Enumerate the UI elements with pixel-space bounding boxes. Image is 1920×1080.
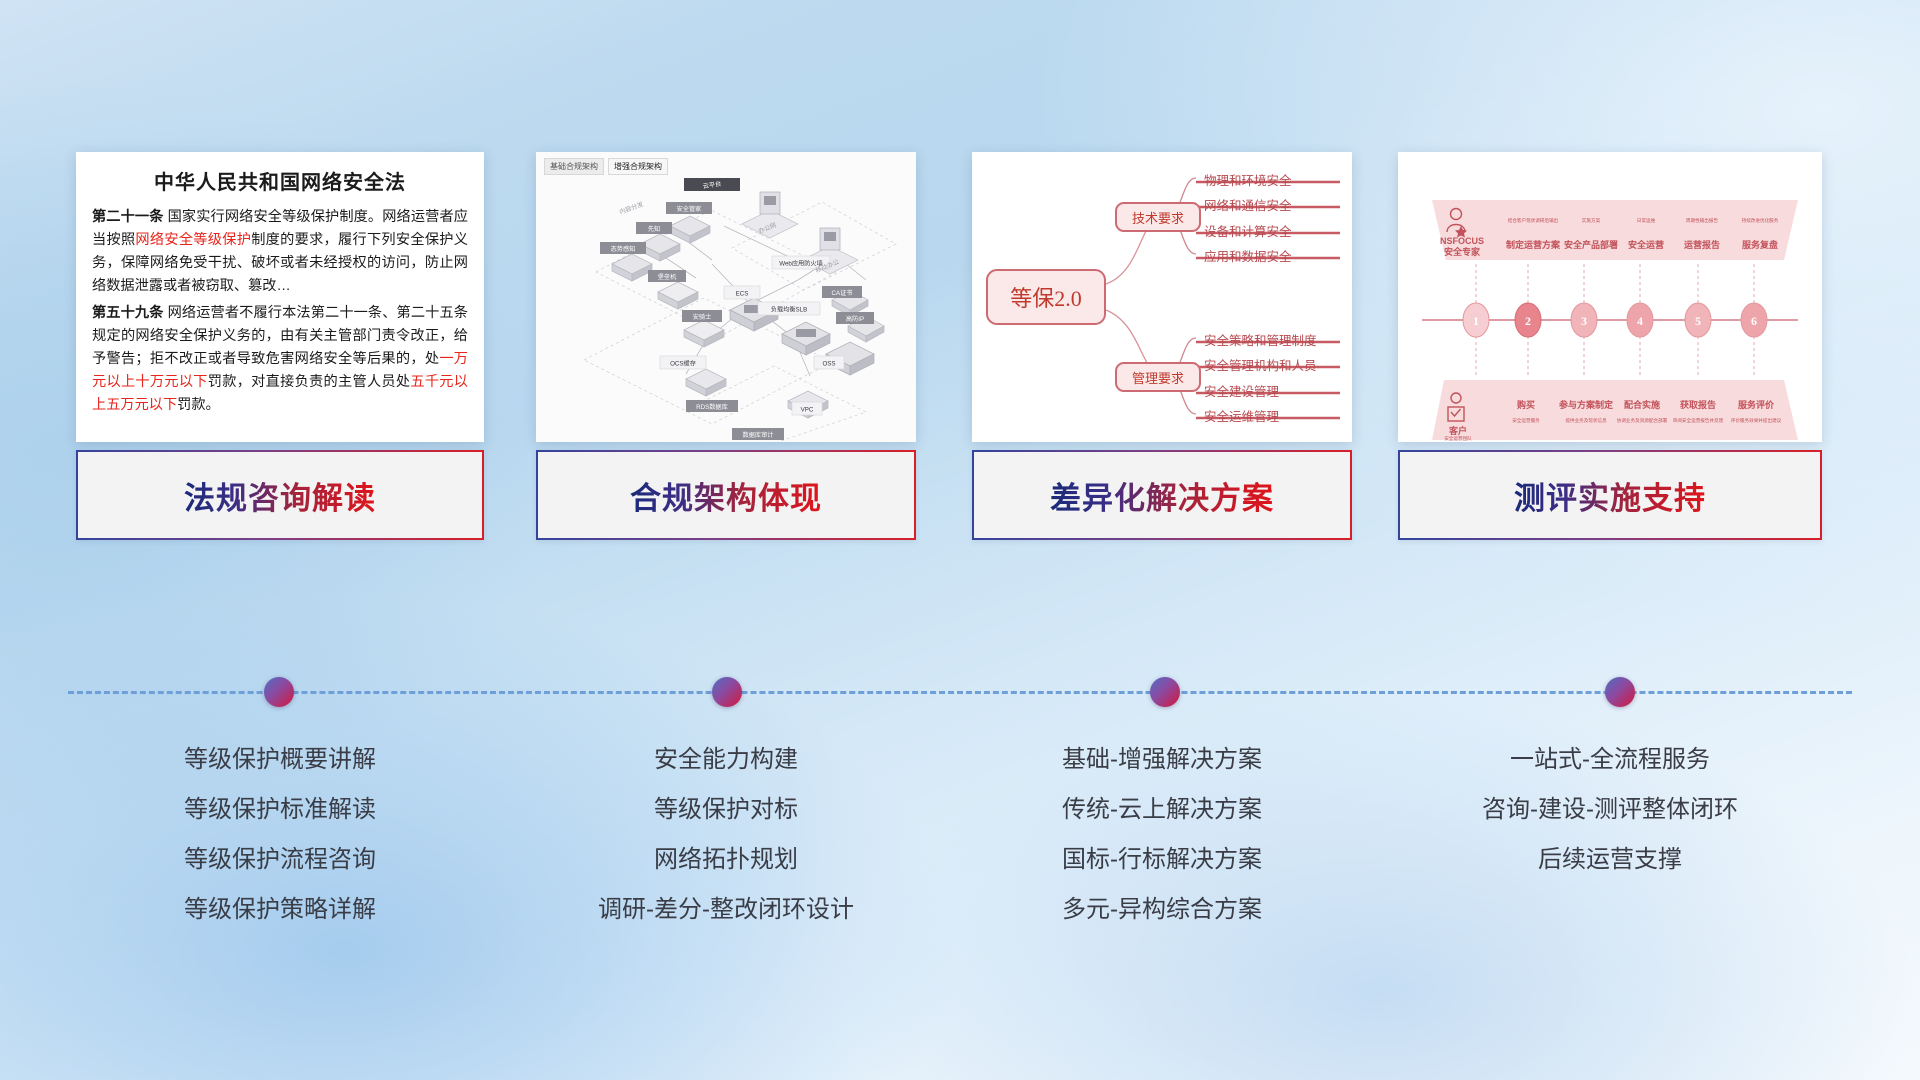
mindmap-leaf-m3: 安全建设管理 — [1204, 381, 1279, 400]
mindmap-leaf-t2: 网络和通信安全 — [1204, 195, 1292, 214]
list-item: 国标-行标解决方案 — [966, 835, 1358, 885]
list-item: 等级保护策略详解 — [76, 885, 484, 935]
svg-text:RDS数据库: RDS数据库 — [696, 403, 728, 411]
svg-text:6: 6 — [1751, 314, 1757, 328]
roadmap-bottom-main-3: 配合实施 — [1610, 398, 1674, 411]
list-item: 安全能力构建 — [530, 735, 922, 785]
list-item: 传统-云上解决方案 — [966, 785, 1358, 835]
card-service-roadmap: 123 456 — [1398, 152, 1822, 442]
list-item: 等级保护概要讲解 — [76, 735, 484, 785]
svg-text:1: 1 — [1473, 314, 1479, 328]
list-item: 网络拓扑规划 — [530, 835, 922, 885]
roadmap-bottom-main-4: 获取报告 — [1666, 398, 1730, 411]
roadmap-customer-sub: 安全运营团队 — [1424, 436, 1492, 442]
svg-text:ECS: ECS — [736, 291, 749, 298]
svg-text:高防IP: 高防IP — [846, 315, 864, 323]
list-item: 咨询-建设-测评整体闭环 — [1398, 785, 1822, 835]
card-law-text: 中华人民共和国网络安全法 第二十一条 国家实行网络安全等级保护制度。网络运营者应… — [76, 152, 484, 442]
banner-label-4: 测评实施支持 — [1514, 473, 1706, 518]
roadmap-expert-label: NSFOCUS 安全专家 — [1434, 236, 1490, 258]
expert-role: 安全专家 — [1444, 247, 1480, 257]
roadmap-top-main-3: 安全运营 — [1614, 238, 1678, 251]
roadmap-canvas: 123 456 — [1398, 152, 1822, 442]
card-architecture-diagram: 基础合规架构 增强合规架构 — [536, 152, 916, 442]
list-item: 一站式-全流程服务 — [1398, 735, 1822, 785]
svg-text:3: 3 — [1581, 314, 1587, 328]
roadmap-top-sub-3: 日常运维 — [1614, 218, 1678, 224]
banner-compliance-architecture[interactable]: 合规架构体现 — [536, 450, 916, 540]
svg-text:4: 4 — [1637, 314, 1643, 328]
timeline-dot-3[interactable] — [1150, 677, 1180, 707]
law-article-59-text-c: 罚款。 — [177, 397, 220, 413]
svg-text:堡垒机: 堡垒机 — [658, 273, 677, 281]
timeline-dashed-line — [68, 691, 1852, 694]
slide-canvas: 中华人民共和国网络安全法 第二十一条 国家实行网络安全等级保护制度。网络运营者应… — [0, 0, 1920, 1080]
banner-evaluation-support[interactable]: 测评实施支持 — [1398, 450, 1822, 540]
timeline-dot-4[interactable] — [1605, 677, 1635, 707]
list-item: 多元-异构综合方案 — [966, 885, 1358, 935]
mindmap-root-node: 等保2.0 — [986, 269, 1106, 325]
architecture-canvas: 基础合规架构 增强合规架构 — [536, 152, 916, 442]
roadmap-top-sub-5: 持续改进优化服务 — [1728, 218, 1792, 224]
mindmap-leaf-m2: 安全管理机构和人员 — [1204, 355, 1317, 374]
mindmap-leaf-m4: 安全运维管理 — [1204, 406, 1279, 425]
banner-label-2: 合规架构体现 — [630, 473, 822, 518]
banner-regulation-consulting[interactable]: 法规咨询解读 — [76, 450, 484, 540]
svg-text:内容分发: 内容分发 — [618, 200, 644, 216]
mindmap-leaf-t1: 物理和环境安全 — [1204, 170, 1292, 189]
list-item: 基础-增强解决方案 — [966, 735, 1358, 785]
mindmap-branch-technical: 技术要求 — [1115, 202, 1201, 232]
timeline-axis — [68, 690, 1852, 694]
svg-text:负载均衡SLB: 负载均衡SLB — [771, 306, 807, 314]
law-article-59-text-b: 罚款，对直接负责的主管人员处 — [208, 374, 411, 390]
roadmap-bottom-main-1: 购买 — [1494, 398, 1558, 411]
list-item: 等级保护对标 — [530, 785, 922, 835]
media-card-row: 中华人民共和国网络安全法 第二十一条 国家实行网络安全等级保护制度。网络运营者应… — [0, 0, 1920, 430]
banner-label-1: 法规咨询解读 — [184, 473, 376, 518]
law-article-21: 第二十一条 国家实行网络安全等级保护制度。网络运营者应当按照网络安全等级保护制度… — [92, 206, 468, 298]
svg-text:OCS缓存: OCS缓存 — [670, 360, 696, 368]
banner-row: 法规咨询解读 合规架构体现 差异化解决方案 测评实施支持 — [0, 450, 1920, 560]
mindmap-leaf-t3: 设备和计算安全 — [1204, 221, 1292, 240]
roadmap-top-main-4: 运营报告 — [1670, 238, 1734, 251]
detail-list-4: 一站式-全流程服务 咨询-建设-测评整体闭环 后续运营支撑 — [1398, 735, 1822, 885]
list-item: 等级保护流程咨询 — [76, 835, 484, 885]
expert-brand: NSFOCUS — [1440, 236, 1484, 246]
roadmap-top-main-5: 服务复盘 — [1728, 238, 1792, 251]
law-article-59: 第五十九条 网络运营者不履行本法第二十一条、第二十五条规定的网络安全保护义务的，… — [92, 302, 468, 417]
svg-text:态势感知: 态势感知 — [611, 245, 636, 253]
list-item: 后续运营支撑 — [1398, 835, 1822, 885]
architecture-svg: 云平台 安全管家 先知 态势感知 堡垒机 ECS 安骑士 OCS缓存 RDS数据… — [536, 152, 916, 442]
roadmap-bottom-sub-5: 评价服务效果并提出建议 — [1720, 418, 1792, 424]
svg-text:VPC: VPC — [801, 407, 814, 414]
svg-text:先知: 先知 — [648, 225, 660, 233]
detail-list-3: 基础-增强解决方案 传统-云上解决方案 国标-行标解决方案 多元-异构综合方案 — [966, 735, 1358, 935]
svg-text:数据库审计: 数据库审计 — [743, 431, 774, 439]
banner-label-3: 差异化解决方案 — [1050, 473, 1274, 518]
law-title: 中华人民共和国网络安全法 — [92, 166, 468, 195]
timeline-dot-1[interactable] — [264, 677, 294, 707]
detail-list-1: 等级保护概要讲解 等级保护标准解读 等级保护流程咨询 等级保护策略详解 — [76, 735, 484, 935]
mindmap-canvas: 等保2.0 技术要求 管理要求 物理和环境安全 网络和通信安全 设备和计算安全 … — [972, 152, 1352, 442]
svg-text:OSS: OSS — [822, 361, 835, 368]
svg-text:安全管家: 安全管家 — [677, 205, 702, 213]
roadmap-bottom-main-5: 服务评价 — [1724, 398, 1788, 411]
svg-text:2: 2 — [1525, 314, 1531, 328]
list-item: 调研-差分-整改闭环设计 — [530, 885, 922, 935]
detail-list-2: 安全能力构建 等级保护对标 网络拓扑规划 调研-差分-整改闭环设计 — [530, 735, 922, 935]
mindmap-leaf-t4: 应用和数据安全 — [1204, 246, 1292, 265]
svg-text:CA证书: CA证书 — [832, 289, 853, 297]
svg-text:安骑士: 安骑士 — [693, 313, 712, 321]
roadmap-top-sub-4: 周期性输出报告 — [1670, 218, 1734, 224]
mindmap-leaf-m1: 安全策略和管理制度 — [1204, 330, 1317, 349]
timeline-dot-2[interactable] — [712, 677, 742, 707]
list-item: 等级保护标准解读 — [76, 785, 484, 835]
law-article-21-highlight: 网络安全等级保护 — [135, 232, 251, 248]
detail-list-row: 等级保护概要讲解 等级保护标准解读 等级保护流程咨询 等级保护策略详解 安全能力… — [0, 735, 1920, 985]
banner-differentiated-solution[interactable]: 差异化解决方案 — [972, 450, 1352, 540]
law-article-59-label: 第五十九条 — [92, 305, 164, 321]
law-document: 中华人民共和国网络安全法 第二十一条 国家实行网络安全等级保护制度。网络运营者应… — [76, 152, 484, 429]
mindmap-branch-management: 管理要求 — [1115, 362, 1201, 392]
law-article-21-label: 第二十一条 — [92, 209, 164, 225]
card-mindmap: 等保2.0 技术要求 管理要求 物理和环境安全 网络和通信安全 设备和计算安全 … — [972, 152, 1352, 442]
svg-text:5: 5 — [1695, 314, 1701, 328]
